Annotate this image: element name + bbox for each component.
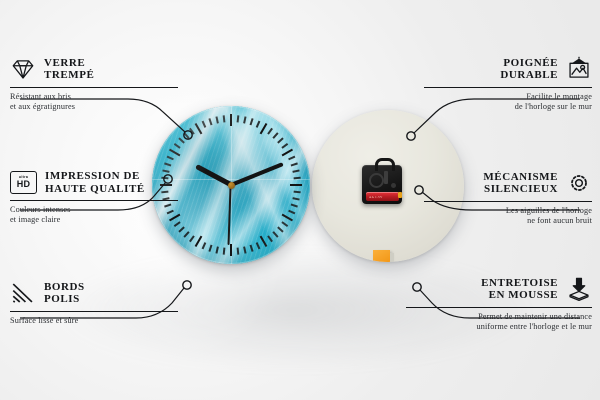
callout-description: Résistant aux bris et aux égratignures	[10, 92, 178, 112]
hanging-loop-icon	[375, 158, 395, 171]
diagonal-lines-icon	[10, 280, 36, 306]
callout-title: ENTRETOISE EN MOUSSE	[481, 277, 558, 302]
callout-divider	[424, 201, 592, 202]
movement-dial	[369, 173, 384, 188]
callout-divider	[10, 311, 178, 312]
callout-header: ultra HD IMPRESSION DE HAUTE QUALITÉ	[10, 170, 178, 195]
callout-divider	[406, 307, 592, 308]
battery-label: AA 1.5V	[369, 195, 383, 199]
callout-divider	[10, 87, 178, 88]
callout-description: Permet de maintenir une distance uniform…	[406, 312, 592, 332]
gear-icon	[566, 170, 592, 196]
movement-bar	[384, 171, 388, 184]
battery: AA 1.5V	[366, 192, 399, 201]
movement-dot	[391, 183, 396, 188]
callout-title: BORDS POLIS	[44, 281, 85, 306]
callout-entretoise-en-mousse: ENTRETOISE EN MOUSSE Permet de maintenir…	[406, 276, 592, 332]
callout-title: POIGNÉE DURABLE	[500, 57, 558, 82]
callout-title: MÉCANISME SILENCIEUX	[483, 171, 558, 196]
callout-impression-haute-qualite: ultra HD IMPRESSION DE HAUTE QUALITÉ Cou…	[10, 170, 178, 225]
foam-spacer-side	[390, 253, 394, 262]
callout-mecanisme-silencieux: MÉCANISME SILENCIEUX Les aiguilles de l'…	[424, 170, 592, 226]
callout-verre-trempe: VERRE TREMPÉ Résistant aux bris et aux é…	[10, 56, 178, 112]
callout-description: Les aiguilles de l'horloge ne font aucun…	[424, 206, 592, 226]
press-down-foam-icon	[566, 276, 592, 302]
quartz-movement: AA 1.5V	[362, 165, 402, 204]
callout-header: VERRE TREMPÉ	[10, 56, 178, 82]
infographic-canvas: AA 1.5V	[0, 0, 600, 400]
callout-header: POIGNÉE DURABLE	[424, 56, 592, 82]
callout-title: IMPRESSION DE HAUTE QUALITÉ	[45, 170, 145, 195]
callout-description: Surface lisse et sûre	[10, 316, 178, 326]
hanging-frame-icon	[566, 56, 592, 82]
callout-header: BORDS POLIS	[10, 280, 178, 306]
callout-divider	[424, 87, 592, 88]
callout-description: Facilite le montage de l'horloge sur le …	[424, 92, 592, 112]
callout-poignee-durable: POIGNÉE DURABLE Facilite le montage de	[424, 56, 592, 112]
callout-divider	[10, 200, 178, 201]
callout-bords-polis: BORDS POLIS Surface lisse et sûre	[10, 280, 178, 326]
callout-header: MÉCANISME SILENCIEUX	[424, 170, 592, 196]
battery-plus-terminal	[398, 192, 402, 198]
foam-spacer	[373, 250, 390, 262]
diamond-icon	[10, 56, 36, 82]
callout-description: Couleurs intenses et image claire	[10, 205, 178, 225]
callout-title: VERRE TREMPÉ	[44, 57, 94, 82]
callout-header: ENTRETOISE EN MOUSSE	[406, 276, 592, 302]
connector-dot-bords-polis	[183, 281, 191, 289]
ultra-hd-icon: ultra HD	[10, 171, 37, 194]
